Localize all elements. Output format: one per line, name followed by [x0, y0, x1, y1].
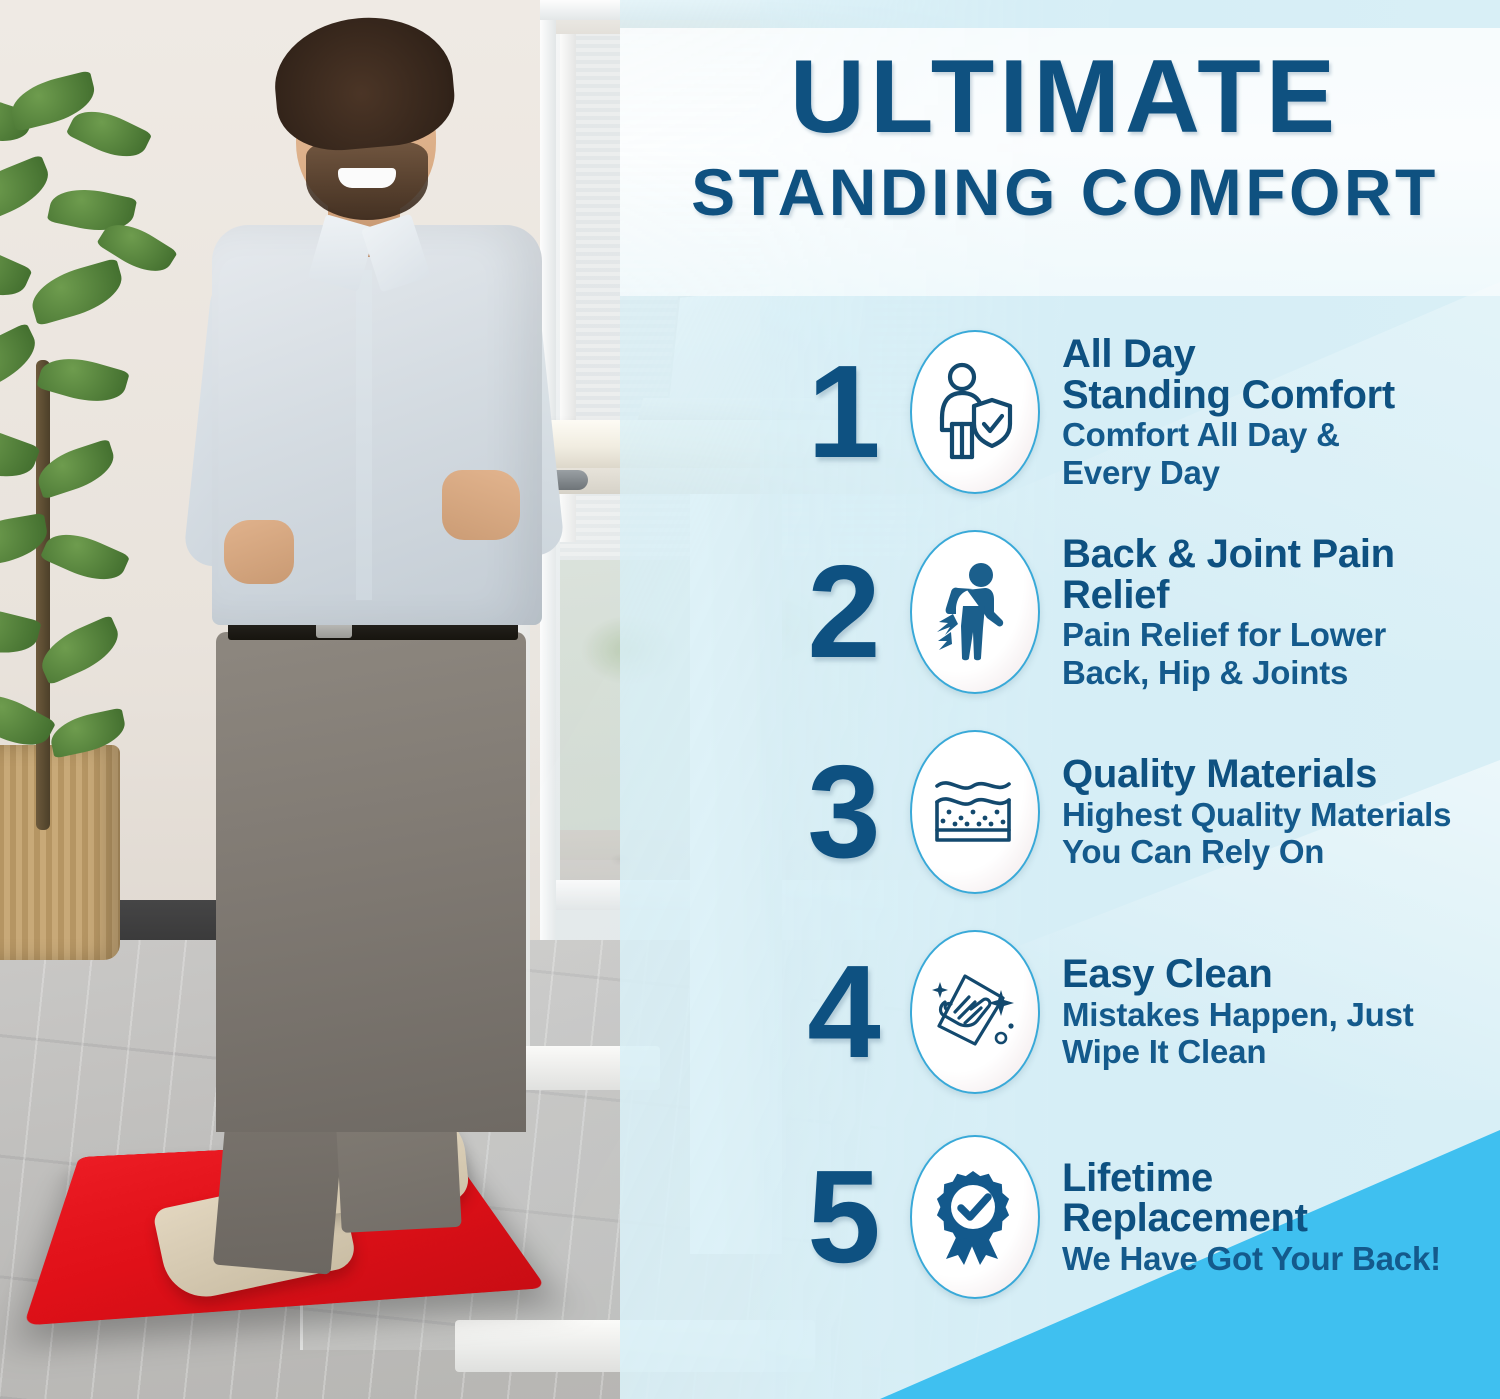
feature-number: 3 — [790, 746, 898, 878]
feature-sub-line-1: Comfort All Day & — [1062, 418, 1500, 452]
feature-text: All Day Standing Comfort Comfort All Day… — [1048, 334, 1500, 490]
feature-number: 2 — [790, 546, 898, 678]
feature-text: Back & Joint Pain Relief Pain Relief for… — [1048, 534, 1500, 690]
feature-sub-line-2: Wipe It Clean — [1062, 1035, 1500, 1069]
feature-number: 4 — [790, 946, 898, 1078]
hand-wiping-cloth-icon — [925, 964, 1021, 1060]
feature-icon-badge — [898, 528, 1048, 696]
feature-title-line-1: Lifetime — [1062, 1158, 1500, 1199]
feature-sub-line-2: Every Day — [1062, 456, 1500, 490]
feature-item: 4 — [790, 912, 1500, 1112]
feature-icon-badge — [898, 328, 1048, 496]
back-pain-person-icon — [927, 562, 1019, 662]
feature-icon-badge — [898, 928, 1048, 1096]
feature-title-line-1: Back & Joint Pain — [1062, 534, 1500, 575]
feature-title-line-1: All Day — [1062, 334, 1500, 375]
feature-icon-badge — [898, 728, 1048, 896]
feature-title-line-1: Easy Clean — [1062, 954, 1500, 995]
headline-line-2: STANDING COMFORT — [640, 158, 1490, 227]
feature-sub-line-1: Pain Relief for Lower — [1062, 618, 1500, 652]
infographic-content: ULTIMATE STANDING COMFORT 1 — [0, 0, 1500, 1399]
feature-icon-badge — [898, 1133, 1048, 1301]
feature-item: 5 Lifetime Replacement — [790, 1112, 1500, 1322]
feature-title-line-2: Relief — [1062, 575, 1500, 616]
feature-sub-line-1: We Have Got Your Back! — [1062, 1242, 1500, 1276]
feature-sub-line-2: Back, Hip & Joints — [1062, 656, 1500, 690]
feature-text: Easy Clean Mistakes Happen, Just Wipe It… — [1048, 954, 1500, 1069]
feature-title-line-2: Replacement — [1062, 1198, 1500, 1239]
infographic-canvas: ULTIMATE STANDING COMFORT 1 — [0, 0, 1500, 1399]
feature-text: Quality Materials Highest Quality Materi… — [1048, 754, 1500, 869]
headline: ULTIMATE STANDING COMFORT — [640, 44, 1490, 227]
feature-list: 1 — [790, 312, 1500, 1322]
foam-layers-icon — [927, 766, 1019, 858]
feature-title-line-2: Standing Comfort — [1062, 375, 1500, 416]
feature-title-line-1: Quality Materials — [1062, 754, 1500, 795]
feature-number: 5 — [790, 1151, 898, 1283]
award-ribbon-check-icon — [926, 1167, 1020, 1267]
feature-number: 1 — [790, 346, 898, 478]
person-with-shield-icon — [930, 362, 1016, 462]
feature-item: 2 — [790, 512, 1500, 712]
feature-sub-line-2: You Can Rely On — [1062, 835, 1500, 869]
feature-sub-line-1: Mistakes Happen, Just — [1062, 998, 1500, 1032]
feature-item: 3 — [790, 712, 1500, 912]
feature-text: Lifetime Replacement We Have Got Your Ba… — [1048, 1158, 1500, 1277]
feature-sub-line-1: Highest Quality Materials — [1062, 798, 1500, 832]
headline-line-1: ULTIMATE — [640, 44, 1490, 150]
feature-item: 1 — [790, 312, 1500, 512]
